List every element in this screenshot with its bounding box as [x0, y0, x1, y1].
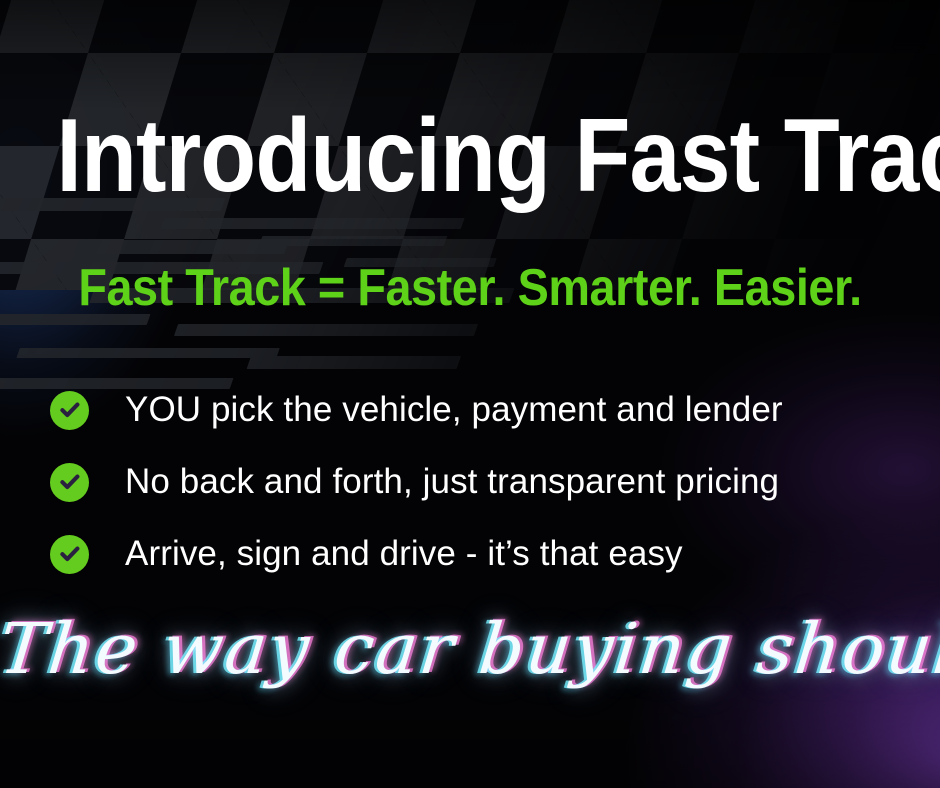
tagline-text: The way car buying should be. [0, 606, 940, 694]
list-item-label: YOU pick the vehicle, payment and lender [125, 392, 783, 429]
list-item: Arrive, sign and drive - it’s that easy [50, 518, 910, 590]
page-title: Introducing Fast Track [56, 104, 883, 208]
benefits-list: YOU pick the vehicle, payment and lender… [50, 374, 910, 590]
check-circle-icon [50, 463, 89, 502]
check-circle-icon [50, 391, 89, 430]
promo-poster: Introducing Fast Track Fast Track = Fast… [0, 0, 940, 788]
list-item: YOU pick the vehicle, payment and lender [50, 374, 910, 446]
tagline: The way car buying should be. [0, 606, 940, 694]
subtitle: Fast Track = Faster. Smarter. Easier. [47, 262, 893, 314]
poster-content: Introducing Fast Track Fast Track = Fast… [0, 0, 940, 788]
check-circle-icon [50, 535, 89, 574]
list-item-label: Arrive, sign and drive - it’s that easy [125, 536, 683, 573]
list-item-label: No back and forth, just transparent pric… [125, 464, 779, 501]
list-item: No back and forth, just transparent pric… [50, 446, 910, 518]
